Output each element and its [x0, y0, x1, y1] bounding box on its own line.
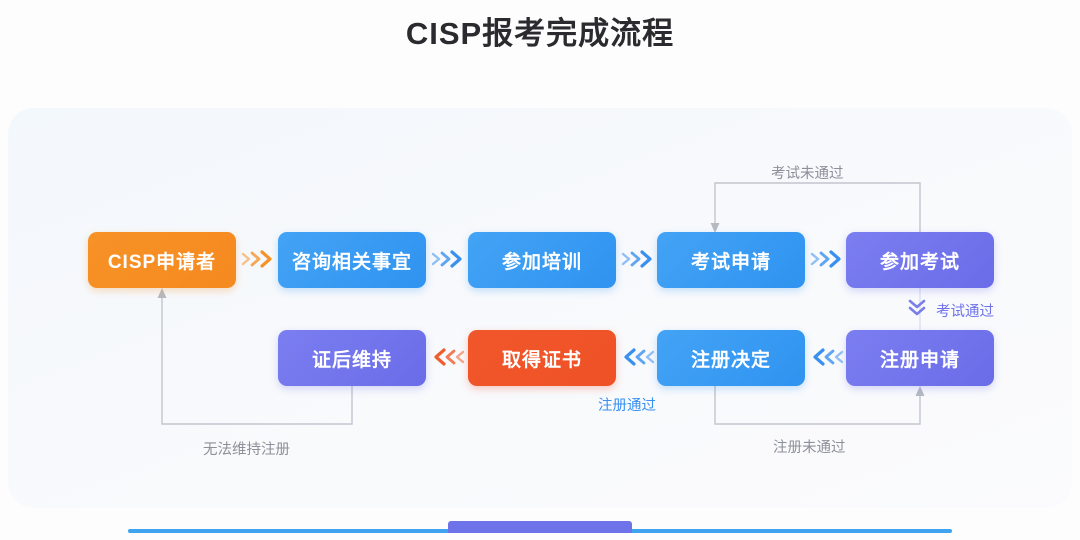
node-label: 咨询相关事宜 [292, 247, 412, 274]
node-exam-apply[interactable]: 考试申请 [657, 232, 805, 288]
node-applicant[interactable]: CISP申请者 [88, 232, 236, 288]
node-label: CISP申请者 [108, 247, 216, 274]
node-label: 证后维持 [312, 345, 392, 372]
flowchart-page: CISP报考完成流程 CISP申请者咨询相关事宜参加培训考试申请参加考试证后维持… [0, 0, 1080, 540]
edge-label-exam-fail: 考试未通过 [771, 162, 844, 183]
edge-label-cannot-keep: 无法维持注册 [203, 438, 290, 459]
edge-label-reg-fail: 注册未通过 [773, 436, 846, 457]
node-label: 注册申请 [880, 345, 960, 372]
arrow-training-to-exam-apply [620, 249, 656, 269]
node-label: 注册决定 [691, 345, 771, 372]
arrow-cert-to-maintain [430, 347, 466, 367]
node-cert[interactable]: 取得证书 [468, 330, 616, 386]
arrow-applicant-to-consult [240, 249, 276, 269]
edge-label-reg-pass: 注册通过 [598, 394, 656, 415]
node-label: 考试申请 [691, 247, 771, 274]
node-maintain[interactable]: 证后维持 [278, 330, 426, 386]
arrow-consult-to-training [430, 249, 466, 269]
node-training[interactable]: 参加培训 [468, 232, 616, 288]
node-label: 取得证书 [502, 345, 582, 372]
footer-progress-thumb[interactable] [448, 521, 632, 533]
node-reg-apply[interactable]: 注册申请 [846, 330, 994, 386]
arrow-reg-apply-to-reg-decide [809, 347, 845, 367]
connector-exam-fail [711, 183, 921, 233]
arrow-exam-apply-to-take-exam [809, 249, 845, 269]
connector-reg-fail [715, 386, 925, 424]
node-reg-decide[interactable]: 注册决定 [657, 330, 805, 386]
node-take-exam[interactable]: 参加考试 [846, 232, 994, 288]
node-label: 参加考试 [880, 247, 960, 274]
exam-pass-chevrons [906, 296, 928, 323]
arrow-reg-decide-to-cert [620, 347, 656, 367]
node-label: 参加培训 [502, 247, 582, 274]
node-consult[interactable]: 咨询相关事宜 [278, 232, 426, 288]
edge-label-exam-pass: 考试通过 [936, 300, 994, 321]
